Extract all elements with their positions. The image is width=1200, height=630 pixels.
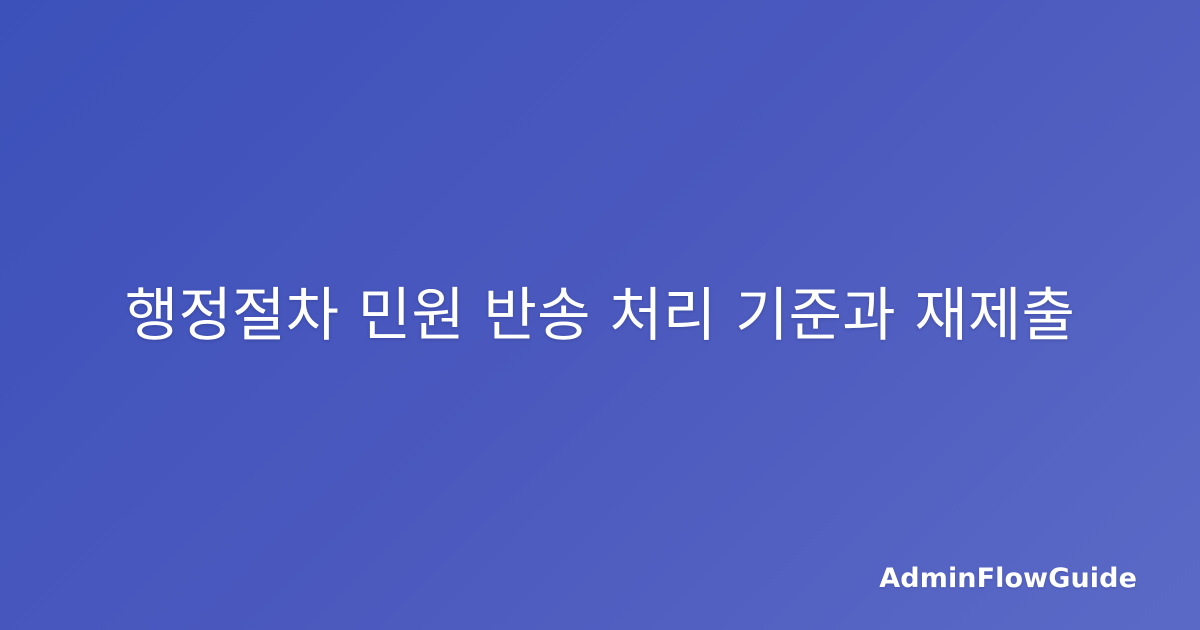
og-card: 행정절차 민원 반송 처리 기준과 재제출 AdminFlowGuide: [0, 0, 1200, 630]
brand-wordmark: AdminFlowGuide: [879, 565, 1137, 592]
title-container: 행정절차 민원 반송 처리 기준과 재제출: [0, 0, 1200, 630]
page-title: 행정절차 민원 반송 처리 기준과 재제출: [125, 279, 1075, 352]
